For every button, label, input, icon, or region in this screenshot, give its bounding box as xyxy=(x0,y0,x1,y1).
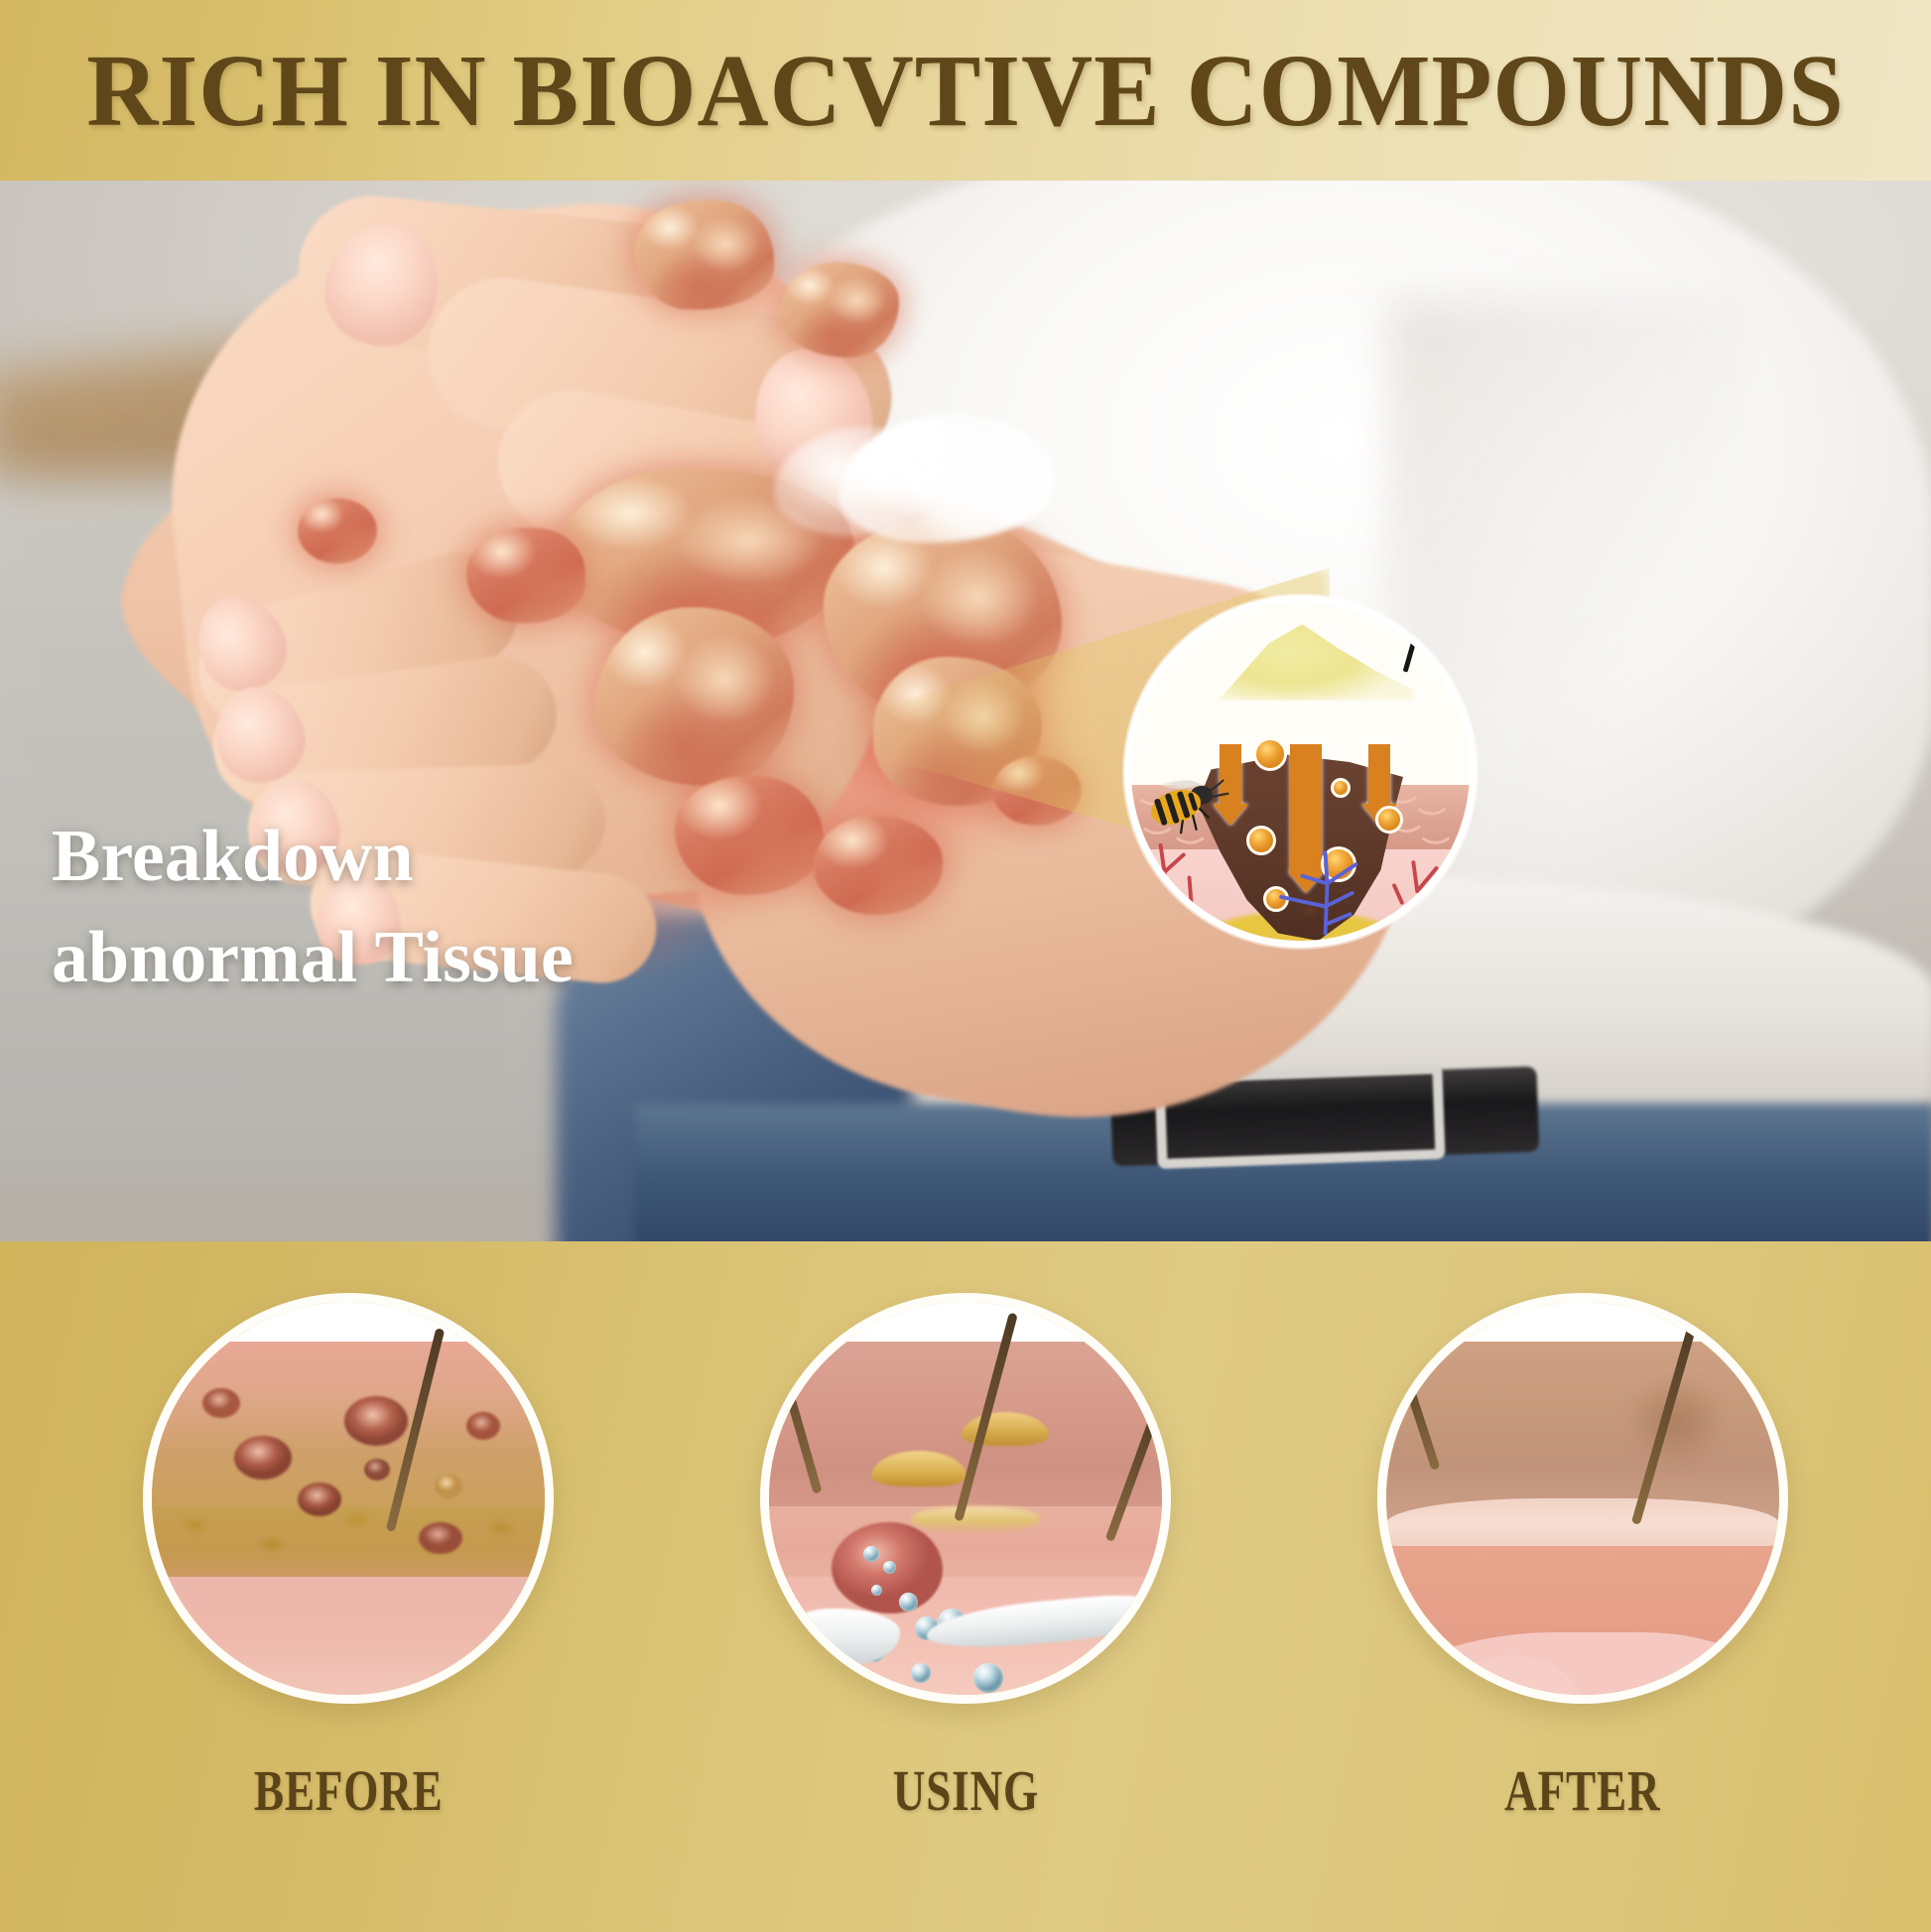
hero-caption-line1: Breakdown xyxy=(52,806,574,907)
capillary-network xyxy=(1131,839,1470,941)
cream-streak-2 xyxy=(781,1609,900,1664)
plaque-8 xyxy=(466,528,585,623)
capillary-blue xyxy=(1281,852,1355,933)
pustule-6 xyxy=(419,1522,462,1554)
step-using-label: USING xyxy=(892,1757,1038,1824)
before-using-after-section: BEFORE xyxy=(0,1241,1931,1932)
hero-caption: Breakdown abnormal Tissue xyxy=(52,806,574,1008)
pustule-2 xyxy=(234,1436,292,1480)
bee-icon xyxy=(1145,772,1230,836)
plaque-1 xyxy=(635,200,774,310)
dermis-layer xyxy=(152,1577,545,1704)
plaque-2 xyxy=(780,262,899,357)
step-before-label: BEFORE xyxy=(254,1757,444,1824)
step-using-illustration xyxy=(760,1293,1171,1704)
pustule-3 xyxy=(298,1482,341,1516)
skin-cross-section xyxy=(769,1302,1162,1695)
pustule-1 xyxy=(344,1396,408,1446)
active-particle-1 xyxy=(1253,737,1287,771)
absorption-arrow-right xyxy=(1368,744,1390,808)
pustule-8 xyxy=(466,1412,500,1440)
skin-cross-section xyxy=(152,1302,545,1695)
plaque-10 xyxy=(814,816,943,915)
active-particle-3 xyxy=(1375,806,1403,834)
step-after: AFTER xyxy=(1325,1241,1841,1824)
pus-band xyxy=(143,1490,554,1577)
hero-photo: Breakdown abnormal Tissue xyxy=(0,181,1931,1241)
dissolution-bubble-4 xyxy=(899,1593,918,1611)
product-infographic: RICH IN BIOACVTIVE COMPOUNDS xyxy=(0,0,1931,1932)
step-before-illustration xyxy=(143,1293,554,1704)
page-title: RICH IN BIOACVTIVE COMPOUNDS xyxy=(39,0,1892,181)
skin-absorption-diagram xyxy=(1124,595,1477,948)
dissolution-bubble-1 xyxy=(863,1546,879,1562)
step-after-label: AFTER xyxy=(1504,1757,1660,1824)
cream-deposit-3 xyxy=(911,1506,1040,1532)
header-banner: RICH IN BIOACVTIVE COMPOUNDS xyxy=(0,0,1931,181)
dissolution-bubble-3 xyxy=(871,1585,882,1596)
dissolution-bubble-8 xyxy=(911,1663,931,1683)
plaque-5 xyxy=(595,607,794,786)
hero-caption-line2: abnormal Tissue xyxy=(52,907,574,1008)
step-list: BEFORE xyxy=(0,1241,1931,1932)
plaque-9 xyxy=(298,498,377,564)
plaque-7 xyxy=(675,776,824,895)
step-before: BEFORE xyxy=(90,1241,606,1824)
step-using: USING xyxy=(708,1241,1223,1824)
skin-cross-section xyxy=(1386,1302,1779,1695)
step-after-illustration xyxy=(1377,1293,1788,1704)
